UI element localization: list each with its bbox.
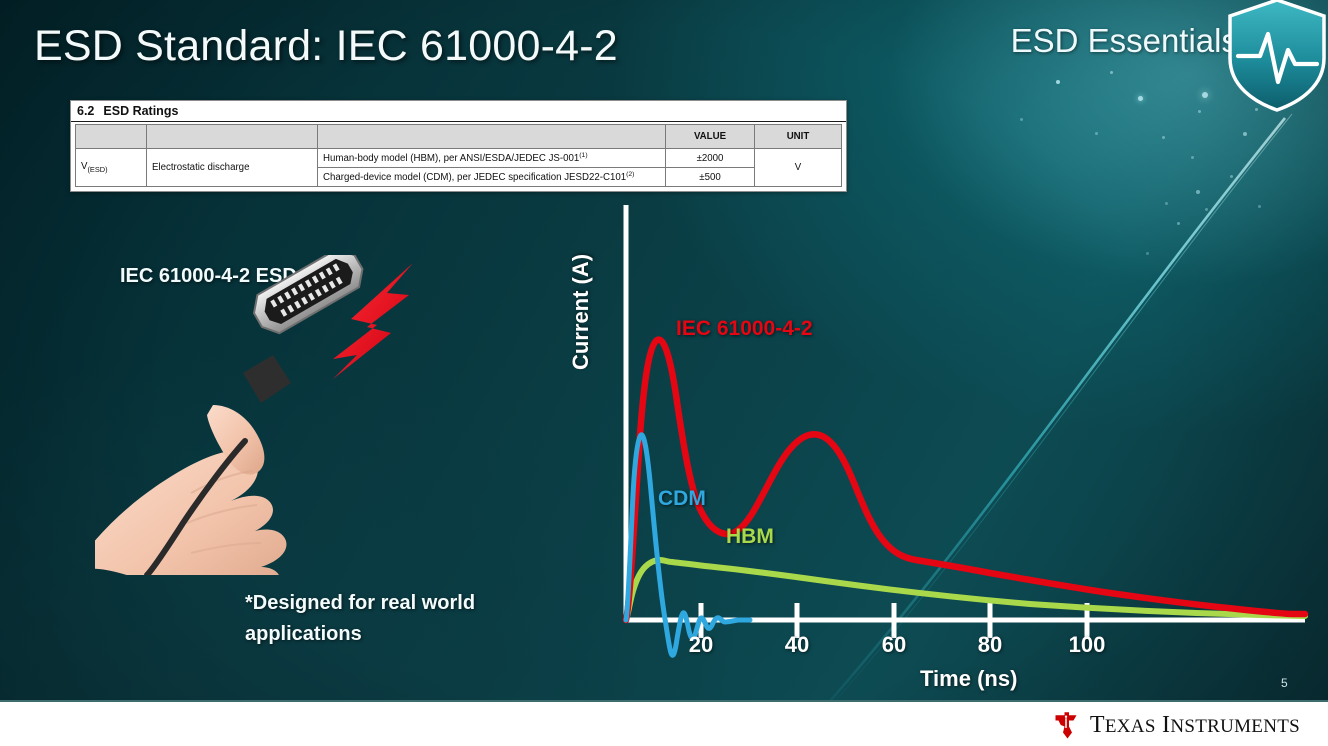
series-iec-line (626, 340, 1305, 620)
cell-description-hbm: Human-body model (HBM), per ANSI/ESDA/JE… (318, 149, 666, 168)
slide-canvas: ESD Standard: IEC 61000-4-2 ESD Essentia… (0, 0, 1328, 746)
cell-description-cdm: Charged-device model (CDM), per JEDEC sp… (318, 168, 666, 187)
th-value: VALUE (666, 125, 755, 149)
esd-waveform-chart (560, 195, 1315, 700)
chart-x-axis-label: Time (ns) (920, 666, 1017, 692)
th-description (318, 125, 666, 149)
x-tick-label-60: 60 (882, 632, 906, 658)
x-tick-label-40: 40 (785, 632, 809, 658)
table-header-row: VALUE UNIT (76, 125, 842, 149)
ti-wordmark: TEXAS INSTRUMENTS (1090, 712, 1300, 739)
table-section-number: 6.2 (77, 104, 94, 118)
esd-ratings-table: 6.2ESD Ratings VALUE UNIT V(ESD) Electro… (70, 100, 847, 192)
ti-word-t: T (1090, 712, 1105, 738)
shield-pulse-icon (1222, 0, 1328, 114)
series-label-hbm: HBM (726, 525, 774, 549)
page-title: ESD Standard: IEC 61000-4-2 (34, 22, 618, 71)
slide-footer: TEXAS INSTRUMENTS (0, 700, 1328, 746)
x-tick-label-80: 80 (978, 632, 1002, 658)
chart-y-axis-label: Current (A) (568, 254, 594, 370)
texas-instruments-logo: TEXAS INSTRUMENTS (1051, 710, 1300, 740)
ti-word-nstruments: NSTRUMENTS (1170, 716, 1300, 737)
ti-word-exas: EXAS (1105, 716, 1156, 737)
table-row: V(ESD) Electrostatic discharge Human-bod… (76, 149, 842, 168)
x-tick-label-100: 100 (1069, 632, 1106, 658)
th-symbol (76, 125, 147, 149)
ti-texas-mark-icon (1051, 710, 1081, 740)
series-label-iec: IEC 61000-4-2 (676, 317, 813, 341)
th-unit: UNIT (755, 125, 842, 149)
series-label-cdm: CDM (658, 487, 706, 511)
cell-parameter: Electrostatic discharge (147, 149, 318, 187)
cell-unit: V (755, 149, 842, 187)
cell-value-hbm: ±2000 (666, 149, 755, 168)
table-caption: 6.2ESD Ratings (71, 101, 846, 122)
th-parameter (147, 125, 318, 149)
brand-label: ESD Essentials (1011, 22, 1238, 60)
cell-symbol: V(ESD) (76, 149, 147, 187)
illustration-note: *Designed for real world applications (245, 588, 545, 650)
table-caption-text: ESD Ratings (103, 104, 178, 118)
page-number: 5 (1281, 676, 1288, 690)
x-tick-label-20: 20 (689, 632, 713, 658)
hand-with-connector-illustration (95, 255, 435, 575)
cell-value-cdm: ±500 (666, 168, 755, 187)
